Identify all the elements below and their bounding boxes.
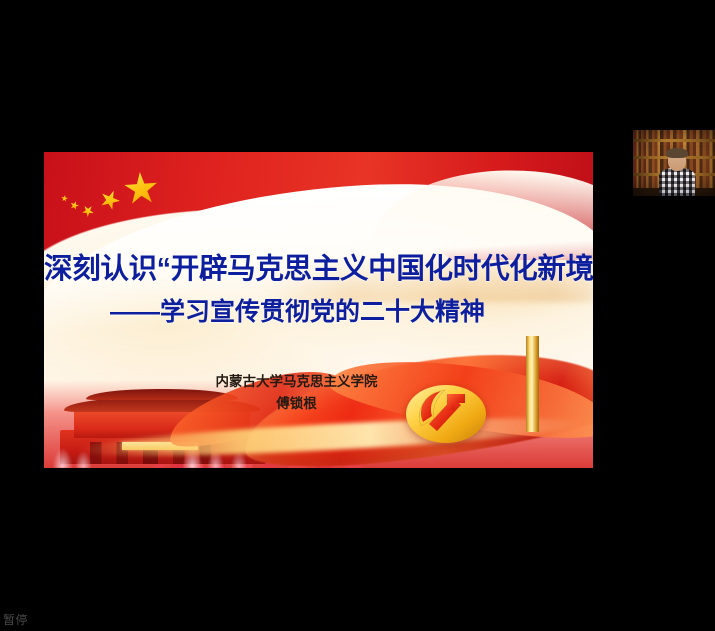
presenter-webcam-overlay[interactable] xyxy=(633,130,715,196)
video-player-stage[interactable]: 深刻认识“开辟马克思主义中国化时代化新境界” ——学习宣传贯彻党的二十大精神 内… xyxy=(0,0,715,631)
slide-presenter-name: 傅锁根 xyxy=(44,392,593,412)
slide-title-primary: 深刻认识“开辟马克思主义中国化时代化新境界” xyxy=(44,246,593,287)
slide-text-layer: 深刻认识“开辟马克思主义中国化时代化新境界” ——学习宣传贯彻党的二十大精神 内… xyxy=(44,152,593,468)
webcam-vignette xyxy=(633,130,715,196)
slide-title-secondary: ——学习宣传贯彻党的二十大精神 xyxy=(44,292,593,328)
playback-status-text: 暂停 xyxy=(3,613,28,627)
presentation-slide: 深刻认识“开辟马克思主义中国化时代化新境界” ——学习宣传贯彻党的二十大精神 内… xyxy=(44,152,593,468)
slide-affiliation: 内蒙古大学马克思主义学院 xyxy=(44,370,593,390)
